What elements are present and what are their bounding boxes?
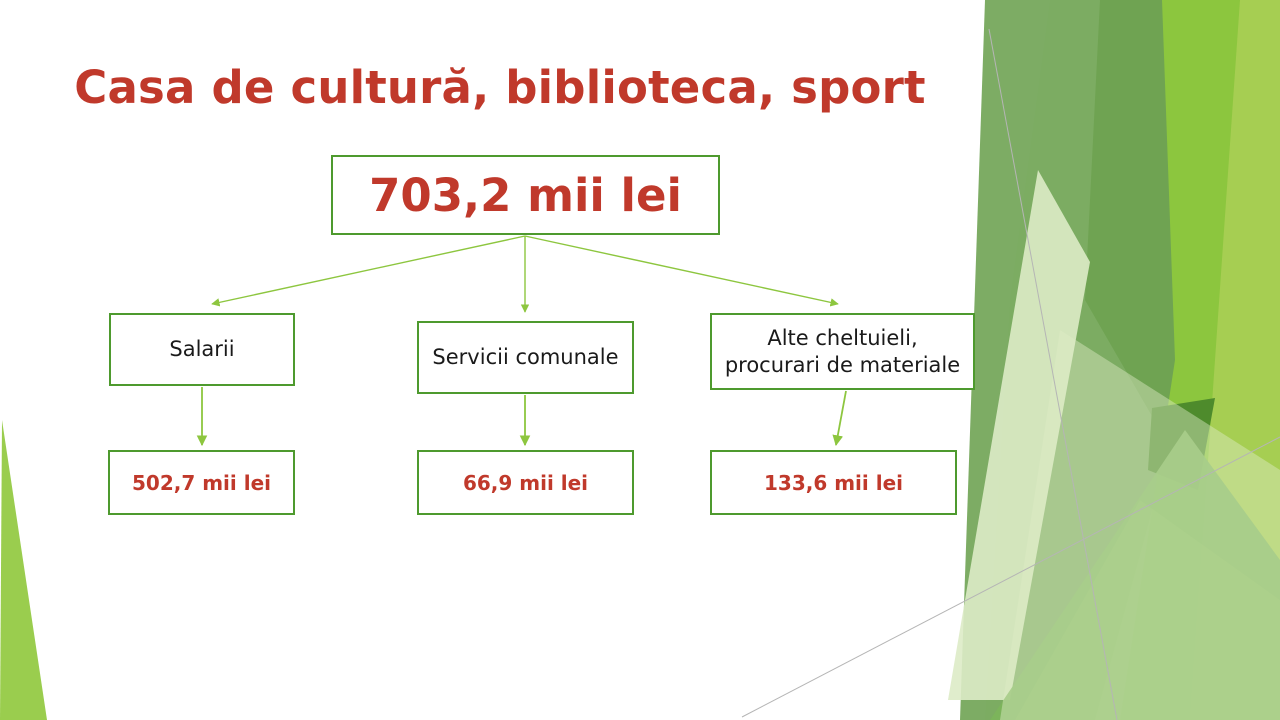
deco-shape-lime-right (1120, 0, 1280, 720)
category-label-alte-cheltuieli-line1: Alte cheltuieli, (767, 326, 917, 350)
deco-shape-bottom-left-wedge (0, 420, 47, 720)
category-label-salarii: Salarii (169, 336, 234, 362)
total-amount-label: 703,2 mii lei (369, 169, 682, 222)
connector-alte-to-value (836, 391, 846, 445)
connector-total-to-alte (525, 236, 838, 304)
deco-shape-pale-wash (985, 0, 1280, 720)
total-amount-box: 703,2 mii lei (331, 155, 720, 235)
category-label-alte-cheltuieli-line2: procurari de materiale (725, 353, 960, 377)
deco-shape-midgreen-left (960, 0, 1185, 720)
value-box-servicii-comunale: 66,9 mii lei (417, 450, 634, 515)
category-box-servicii-comunale: Servicii comunale (417, 321, 634, 394)
page-title: Casa de cultură, biblioteca, sport (60, 62, 940, 114)
category-label-alte-cheltuieli: Alte cheltuieli, procurari de materiale (725, 325, 960, 378)
category-box-alte-cheltuieli: Alte cheltuieli, procurari de materiale (710, 313, 975, 390)
deco-shape-light-sheet (1000, 330, 1280, 720)
value-label-alte-cheltuieli: 133,6 mii lei (764, 471, 903, 495)
slide-canvas: Casa de cultură, biblioteca, sport 703,2… (0, 0, 1280, 720)
category-label-servicii-comunale: Servicii comunale (432, 344, 618, 370)
value-label-salarii: 502,7 mii lei (132, 471, 271, 495)
deco-shape-yellowgreen-far-right (1190, 0, 1280, 720)
deco-shape-dark-crossing (1148, 398, 1215, 490)
connector-total-to-salarii (212, 236, 525, 304)
category-box-salarii: Salarii (109, 313, 295, 386)
deco-shape-bottom-soft-band (1015, 500, 1280, 720)
deco-shape-pale-triangle (948, 170, 1090, 700)
deco-shape-lower-diagonal-band (990, 430, 1280, 720)
deco-shape-dark-olive (1085, 0, 1215, 430)
value-box-alte-cheltuieli: 133,6 mii lei (710, 450, 957, 515)
value-label-servicii-comunale: 66,9 mii lei (463, 471, 588, 495)
deco-hairline-1 (989, 29, 1117, 720)
value-box-salarii: 502,7 mii lei (108, 450, 295, 515)
